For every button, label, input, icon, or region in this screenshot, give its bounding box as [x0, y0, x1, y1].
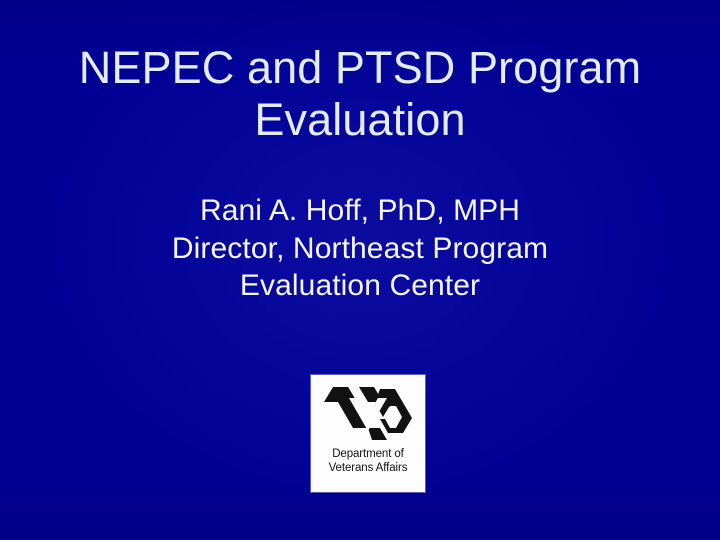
- va-wordmark-line-1: Department of: [329, 447, 408, 461]
- subtitle-line-role-1: Director, Northeast Program: [0, 230, 720, 267]
- slide-subtitle: Rani A. Hoff, PhD, MPH Director, Northea…: [0, 191, 720, 304]
- title-line-2: Evaluation: [0, 94, 720, 146]
- va-wordmark: Department of Veterans Affairs: [329, 447, 408, 475]
- subtitle-line-presenter: Rani A. Hoff, PhD, MPH: [0, 191, 720, 230]
- va-emblem-icon: [320, 380, 416, 444]
- va-logo: Department of Veterans Affairs: [311, 375, 425, 492]
- title-line-1: NEPEC and PTSD Program: [0, 42, 720, 94]
- subtitle-line-role-2: Evaluation Center: [0, 267, 720, 304]
- slide-title: NEPEC and PTSD Program Evaluation: [0, 42, 720, 146]
- va-wordmark-line-2: Veterans Affairs: [329, 461, 408, 475]
- presentation-slide: NEPEC and PTSD Program Evaluation Rani A…: [0, 0, 720, 540]
